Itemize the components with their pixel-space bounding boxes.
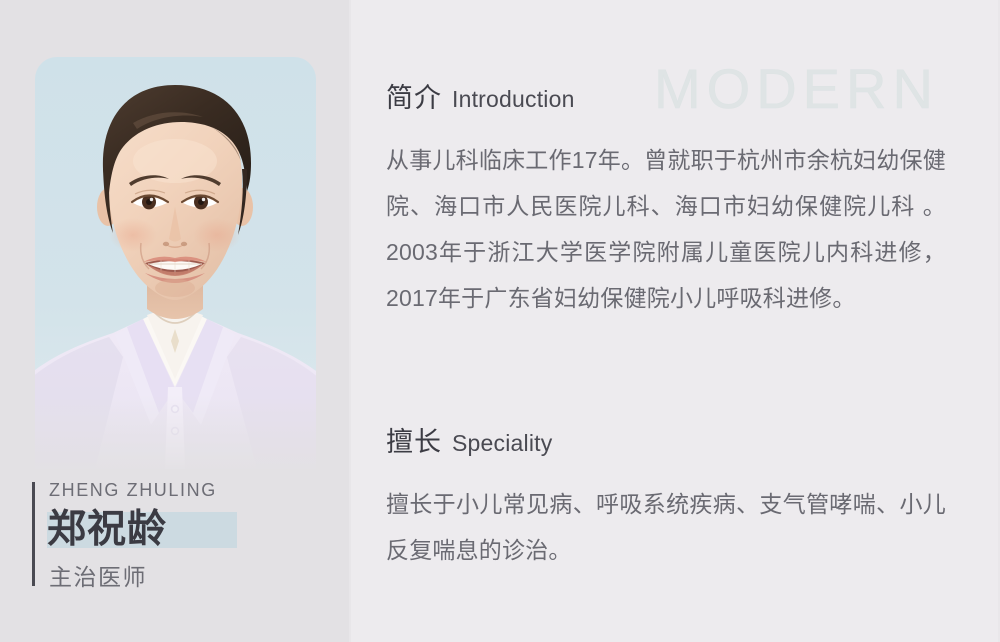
doctor-name-cn-wrap: 郑祝龄: [47, 507, 167, 553]
content-panel: MODERN 简介 Introduction 从事儿科临床工作17年。曾就职于杭…: [386, 0, 961, 642]
introduction-heading-cn: 简介: [386, 76, 442, 115]
section-introduction: 简介 Introduction 从事儿科临床工作17年。曾就职于杭州市余杭妇幼保…: [386, 76, 951, 321]
name-block: ZHENG ZHULING 郑祝龄 主治医师: [32, 480, 322, 588]
introduction-body: 从事儿科临床工作17年。曾就职于杭州市余杭妇幼保健院、海口市人民医院儿科、海口市…: [386, 137, 946, 321]
doctor-role: 主治医师: [49, 558, 147, 592]
speciality-body: 擅长于小儿常见病、呼吸系统疾病、支气管哮喘、小儿反复喘息的诊治。: [386, 481, 946, 573]
doctor-name-en: ZHENG ZHULING: [49, 480, 217, 501]
introduction-heading-en: Introduction: [452, 86, 575, 113]
panel-divider: [349, 0, 351, 642]
speciality-heading-en: Speciality: [452, 430, 552, 457]
portrait-illustration: [35, 57, 316, 469]
accent-bar: [32, 482, 35, 586]
introduction-heading: 简介 Introduction: [386, 76, 951, 115]
doctor-name-cn: 郑祝龄: [47, 507, 167, 553]
section-speciality: 擅长 Speciality 擅长于小儿常见病、呼吸系统疾病、支气管哮喘、小儿反复…: [386, 420, 951, 573]
speciality-heading: 擅长 Speciality: [386, 420, 951, 459]
doctor-profile-card: ZHENG ZHULING 郑祝龄 主治医师 MODERN 简介 Introdu…: [0, 0, 1000, 642]
speciality-heading-cn: 擅长: [386, 420, 442, 459]
doctor-portrait-photo: [35, 57, 316, 469]
